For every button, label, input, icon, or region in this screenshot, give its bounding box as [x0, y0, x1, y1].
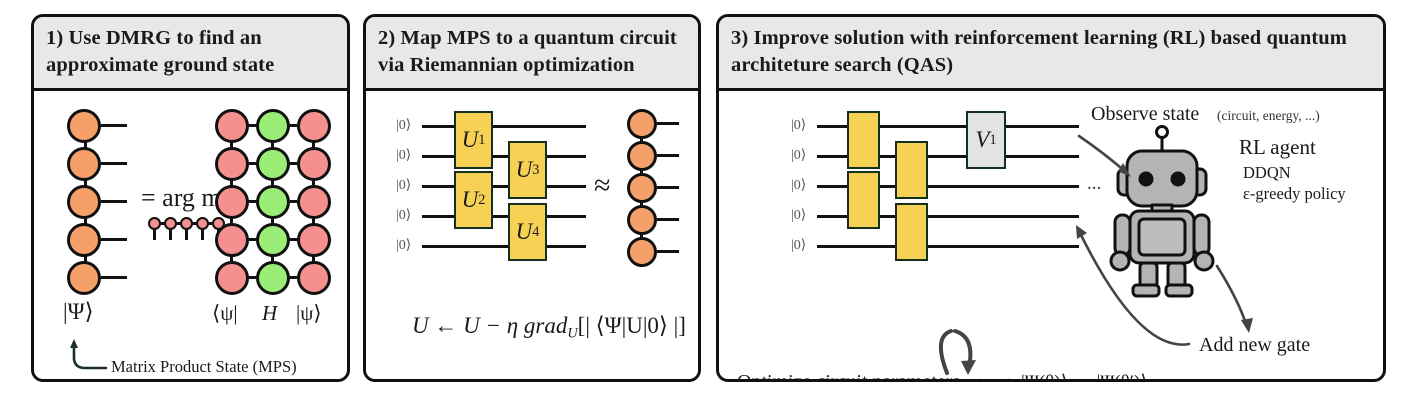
mps-node — [627, 237, 657, 267]
panel-qas-body: |0⟩ |0⟩ |0⟩ |0⟩ |0⟩ V1 ... Observe stat — [719, 91, 1383, 382]
gate-u2-sub: 2 — [478, 192, 485, 209]
gate-u4-label: U — [516, 219, 533, 245]
panel-qas-header: 3) Improve solution with reinforcement l… — [719, 17, 1383, 91]
agent-policy: ε-greedy policy — [1243, 184, 1346, 204]
gate-v1-sub: 1 — [989, 132, 996, 149]
grid-node-bra — [215, 147, 249, 181]
panel-mapping-body: |0⟩ |0⟩ |0⟩ |0⟩ |0⟩ U1 U2 U3 U4 — [366, 91, 698, 382]
mps-node — [627, 141, 657, 171]
bra-label: ⟨ψ| — [212, 301, 238, 326]
qubit-wire — [422, 215, 586, 218]
gate-u4[interactable]: U4 — [508, 203, 547, 261]
grid-node-ket — [297, 223, 331, 257]
mps-leg — [101, 238, 127, 241]
mps-leg — [657, 154, 679, 157]
gate-u4-sub: 4 — [532, 224, 539, 241]
observe-state-detail: (circuit, energy, ...) — [1217, 108, 1320, 124]
panel-qas: 3) Improve solution with reinforcement l… — [716, 14, 1386, 382]
gate-u3[interactable]: U3 — [508, 141, 547, 199]
optimize-math: |Ψ(θ)⟩ → |Ψ(θ′)⟩ — [1021, 371, 1148, 382]
hamiltonian-label: H — [262, 301, 277, 326]
mps-node — [67, 185, 101, 219]
qubit-wire — [422, 125, 586, 128]
grid-node-hamiltonian — [256, 261, 290, 295]
gate-block[interactable] — [847, 111, 880, 169]
mps-leg — [101, 124, 127, 127]
gate-v1-label: V — [975, 127, 989, 153]
ket-label: |ψ⟩ — [296, 301, 322, 326]
mps-leg — [101, 200, 127, 203]
gate-v1[interactable]: V1 — [966, 111, 1006, 169]
observe-state-label: Observe state — [1091, 103, 1199, 126]
qubit-ket-label: |0⟩ — [791, 117, 806, 134]
mps-leg — [657, 218, 679, 221]
qubit-ket-label: |0⟩ — [396, 237, 411, 254]
grid-node-hamiltonian — [256, 223, 290, 257]
gate-u1[interactable]: U1 — [454, 111, 493, 169]
mps-node — [67, 223, 101, 257]
panel-dmrg-header: 1) Use DMRG to find an approximate groun… — [34, 17, 347, 91]
circuit-ellipsis: ... — [1087, 173, 1101, 195]
qubit-ket-label: |0⟩ — [791, 147, 806, 164]
gate-u1-sub: 1 — [478, 132, 485, 149]
qubit-ket-label: |0⟩ — [791, 237, 806, 254]
mps-state-label: |Ψ⟩ — [63, 299, 94, 325]
diagram-canvas: 1) Use DMRG to find an approximate groun… — [0, 0, 1417, 413]
agent-algorithm: DDQN — [1243, 163, 1291, 183]
grid-node-bra — [215, 185, 249, 219]
grid-node-hamiltonian — [256, 147, 290, 181]
mps-leg — [101, 162, 127, 165]
panel-dmrg: 1) Use DMRG to find an approximate groun… — [31, 14, 350, 382]
gate-u3-label: U — [516, 157, 533, 183]
gate-block[interactable] — [895, 203, 928, 261]
gate-block[interactable] — [895, 141, 928, 199]
gate-u3-sub: 3 — [532, 162, 539, 179]
grid-node-bra — [215, 109, 249, 143]
approx-symbol: ≈ — [594, 169, 610, 203]
update-rule-sub: U — [567, 325, 577, 341]
mps-node — [627, 205, 657, 235]
panel-dmrg-body: = arg min — [34, 91, 347, 382]
grid-node-ket — [297, 147, 331, 181]
grid-node-ket — [297, 185, 331, 219]
gate-u2[interactable]: U2 — [454, 171, 493, 229]
mps-node — [67, 261, 101, 295]
update-rule-main: U ← U − η grad — [412, 313, 567, 338]
gate-u2-label: U — [462, 187, 479, 213]
grid-node-bra — [215, 261, 249, 295]
update-rule-tail: [| ⟨Ψ|U|0⟩ |] — [578, 313, 686, 338]
qubit-ket-label: |0⟩ — [791, 207, 806, 224]
gate-u1-label: U — [462, 127, 479, 153]
qubit-wire — [817, 245, 1079, 248]
qubit-wire — [422, 245, 586, 248]
grid-node-bra — [215, 223, 249, 257]
qubit-ket-label: |0⟩ — [396, 207, 411, 224]
mps-annotation-label: Matrix Product State (MPS) — [111, 357, 297, 377]
qubit-ket-label: |0⟩ — [791, 177, 806, 194]
grid-node-hamiltonian — [256, 109, 290, 143]
agent-title: RL agent — [1239, 135, 1316, 160]
qubit-ket-label: |0⟩ — [396, 117, 411, 134]
mps-node — [67, 109, 101, 143]
qubit-wire — [422, 155, 586, 158]
qubit-wire — [422, 185, 586, 188]
mps-node — [627, 109, 657, 139]
grid-node-hamiltonian — [256, 185, 290, 219]
mps-node — [627, 173, 657, 203]
panel-mapping: 2) Map MPS to a quantum circuit via Riem… — [363, 14, 701, 382]
optimize-label: Optimize circuit parameters — [737, 371, 960, 382]
panel-mapping-header: 2) Map MPS to a quantum circuit via Riem… — [366, 17, 698, 91]
update-rule: U ← U − η gradU[| ⟨Ψ|U|0⟩ |] — [412, 313, 686, 342]
optimize-detail: (CPU) — [977, 376, 1012, 382]
mps-leg — [101, 276, 127, 279]
mps-leg — [657, 250, 679, 253]
mps-leg — [657, 122, 679, 125]
qubit-ket-label: |0⟩ — [396, 147, 411, 164]
gate-block[interactable] — [847, 171, 880, 229]
mps-node — [67, 147, 101, 181]
grid-node-ket — [297, 261, 331, 295]
grid-node-ket — [297, 109, 331, 143]
mps-leg — [657, 186, 679, 189]
qubit-ket-label: |0⟩ — [396, 177, 411, 194]
add-new-gate-label: Add new gate — [1199, 334, 1310, 357]
